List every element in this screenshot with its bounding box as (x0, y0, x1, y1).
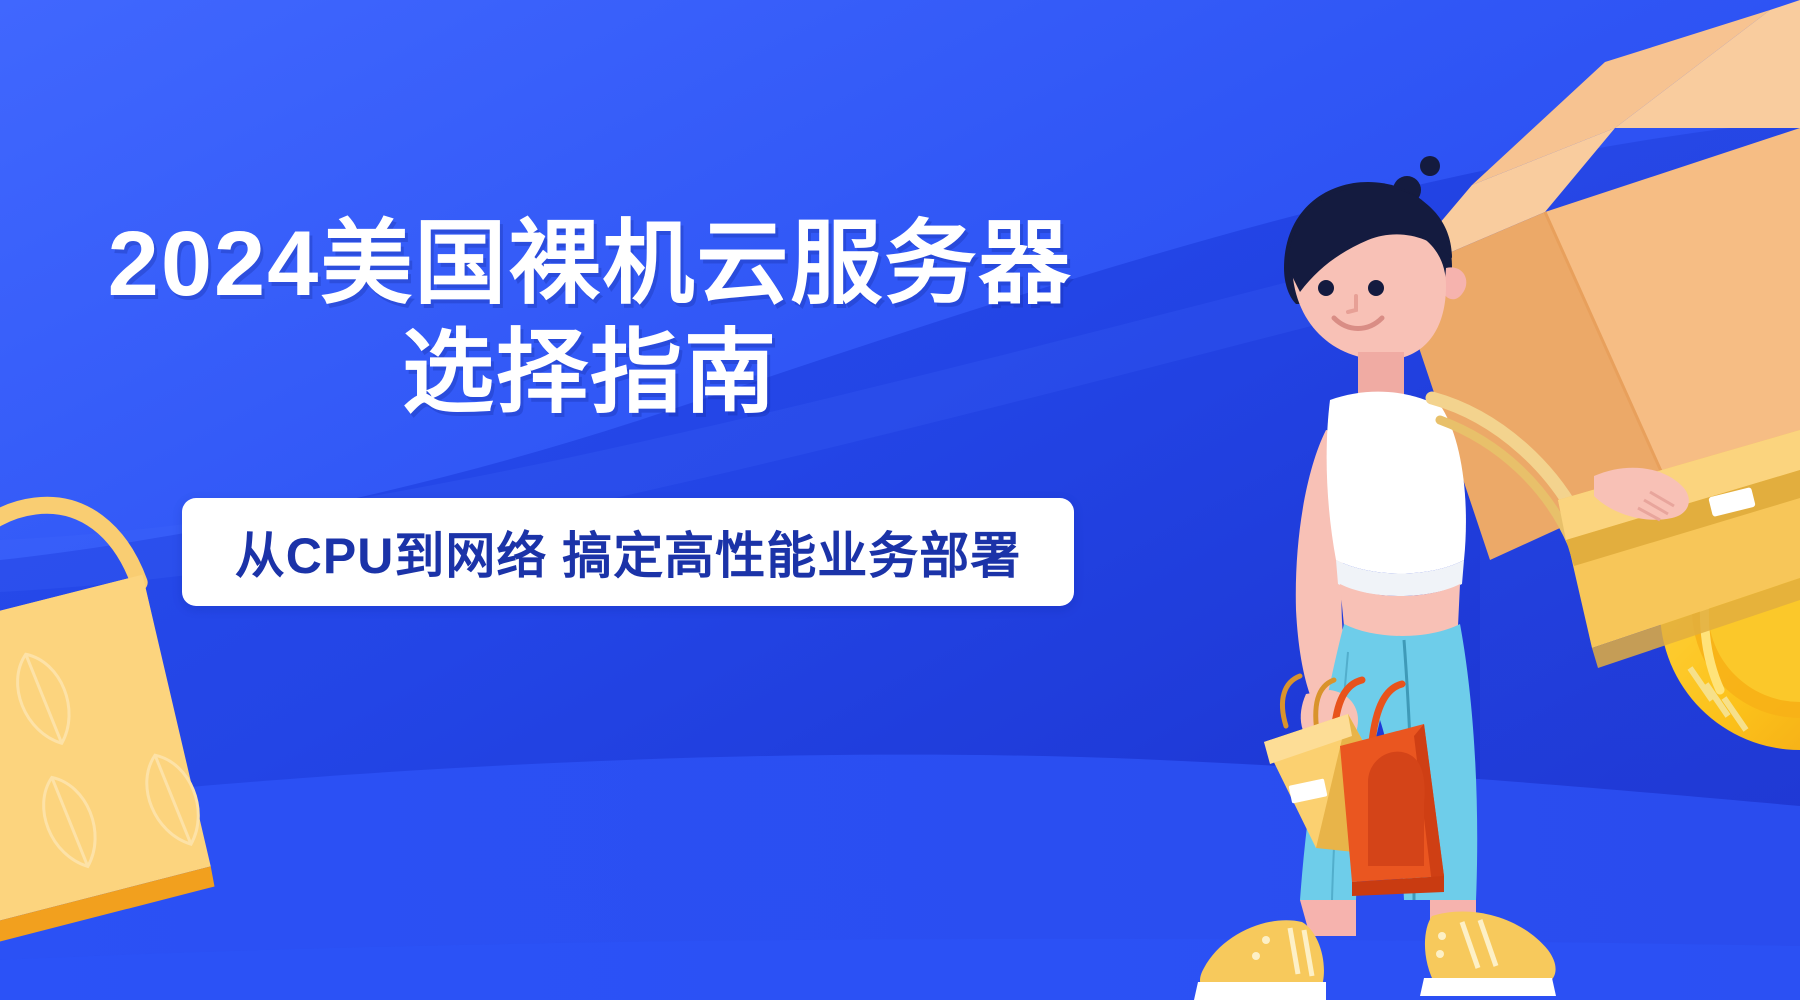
promo-banner: 2024美国裸机云服务器 选择指南 从CPU到网络 搞定高性能业务部署 (0, 0, 1800, 1000)
headline-line-1: 2024美国裸机云服务器 (0, 210, 1180, 319)
subtitle-card: 从CPU到网络 搞定高性能业务部署 (182, 498, 1074, 606)
subtitle-text: 从CPU到网络 搞定高性能业务部署 (235, 516, 1021, 588)
headline-group: 2024美国裸机云服务器 选择指南 (0, 210, 1180, 427)
headline-line-2: 选择指南 (0, 319, 1180, 428)
